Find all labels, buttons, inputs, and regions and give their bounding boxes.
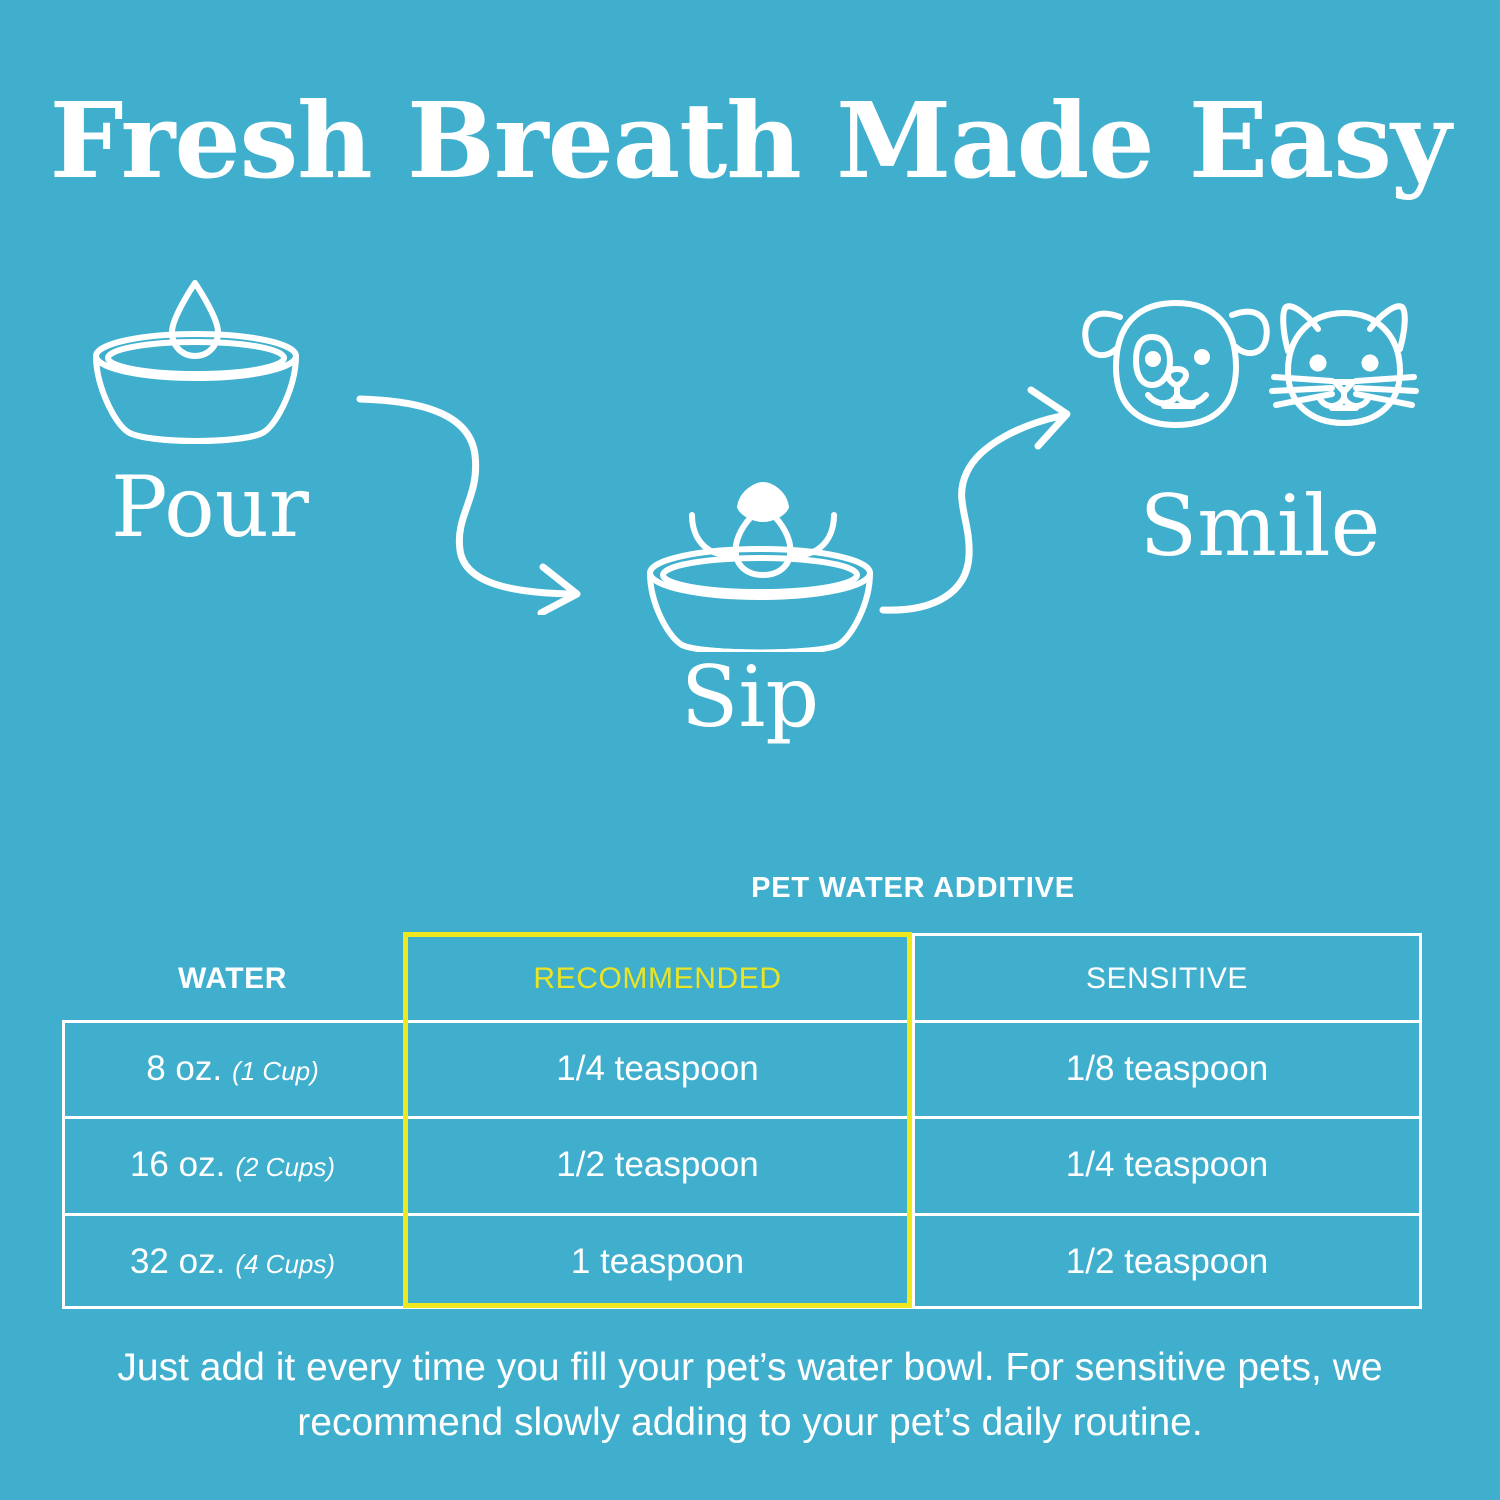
cell-sensitive-dose: 1/2 teaspoon xyxy=(912,1214,1422,1310)
table-header-recommended: RECOMMENDED xyxy=(403,941,912,1017)
cell-water-amount: 8 oz. xyxy=(146,1049,222,1088)
cell-water-cups: (4 Cups) xyxy=(235,1249,335,1279)
table-row: 8 oz.(1 Cup) xyxy=(62,1021,403,1117)
dog-and-cat-faces-icon xyxy=(1060,285,1440,450)
cat-face-icon xyxy=(1272,306,1416,423)
cell-recommended-dose: 1/4 teaspoon xyxy=(403,1021,912,1117)
infographic-canvas: Fresh Breath Made Easy Pour xyxy=(0,0,1500,1500)
curved-arrow-right-up-icon xyxy=(875,380,1090,620)
cell-water-amount: 16 oz. xyxy=(130,1145,225,1184)
cell-sensitive-dose: 1/8 teaspoon xyxy=(912,1021,1422,1117)
cell-water-cups: (2 Cups) xyxy=(235,1152,335,1182)
steps-section: Pour xyxy=(0,255,1500,815)
dog-drinking-from-bowl-icon xyxy=(620,477,900,652)
step-label-pour: Pour xyxy=(30,458,390,556)
table-row: 32 oz.(4 Cups) xyxy=(62,1214,403,1310)
table-title: PET WATER ADDITIVE xyxy=(403,872,1423,905)
table-row: 16 oz.(2 Cups) xyxy=(62,1117,403,1213)
cell-recommended-dose: 1 teaspoon xyxy=(403,1214,912,1310)
footer-instructions: Just add it every time you fill your pet… xyxy=(95,1340,1405,1451)
page-title: Fresh Breath Made Easy xyxy=(0,86,1500,195)
table-header-water: WATER xyxy=(62,941,403,1017)
cell-water-amount: 32 oz. xyxy=(130,1242,225,1281)
cell-water-cups: (1 Cup) xyxy=(232,1056,319,1086)
water-bowl-with-droplet-icon xyxy=(88,273,378,453)
cell-recommended-dose: 1/2 teaspoon xyxy=(403,1117,912,1213)
dosage-table: WATER RECOMMENDED SENSITIVE 8 oz.(1 Cup)… xyxy=(62,933,1422,1309)
step-label-smile: Smile xyxy=(1075,477,1445,575)
table-header-sensitive: SENSITIVE xyxy=(912,941,1422,1017)
cell-sensitive-dose: 1/4 teaspoon xyxy=(912,1117,1422,1213)
curved-arrow-right-down-icon xyxy=(355,385,615,615)
dog-face-icon xyxy=(1085,303,1267,425)
step-label-sip: Sip xyxy=(570,648,930,746)
